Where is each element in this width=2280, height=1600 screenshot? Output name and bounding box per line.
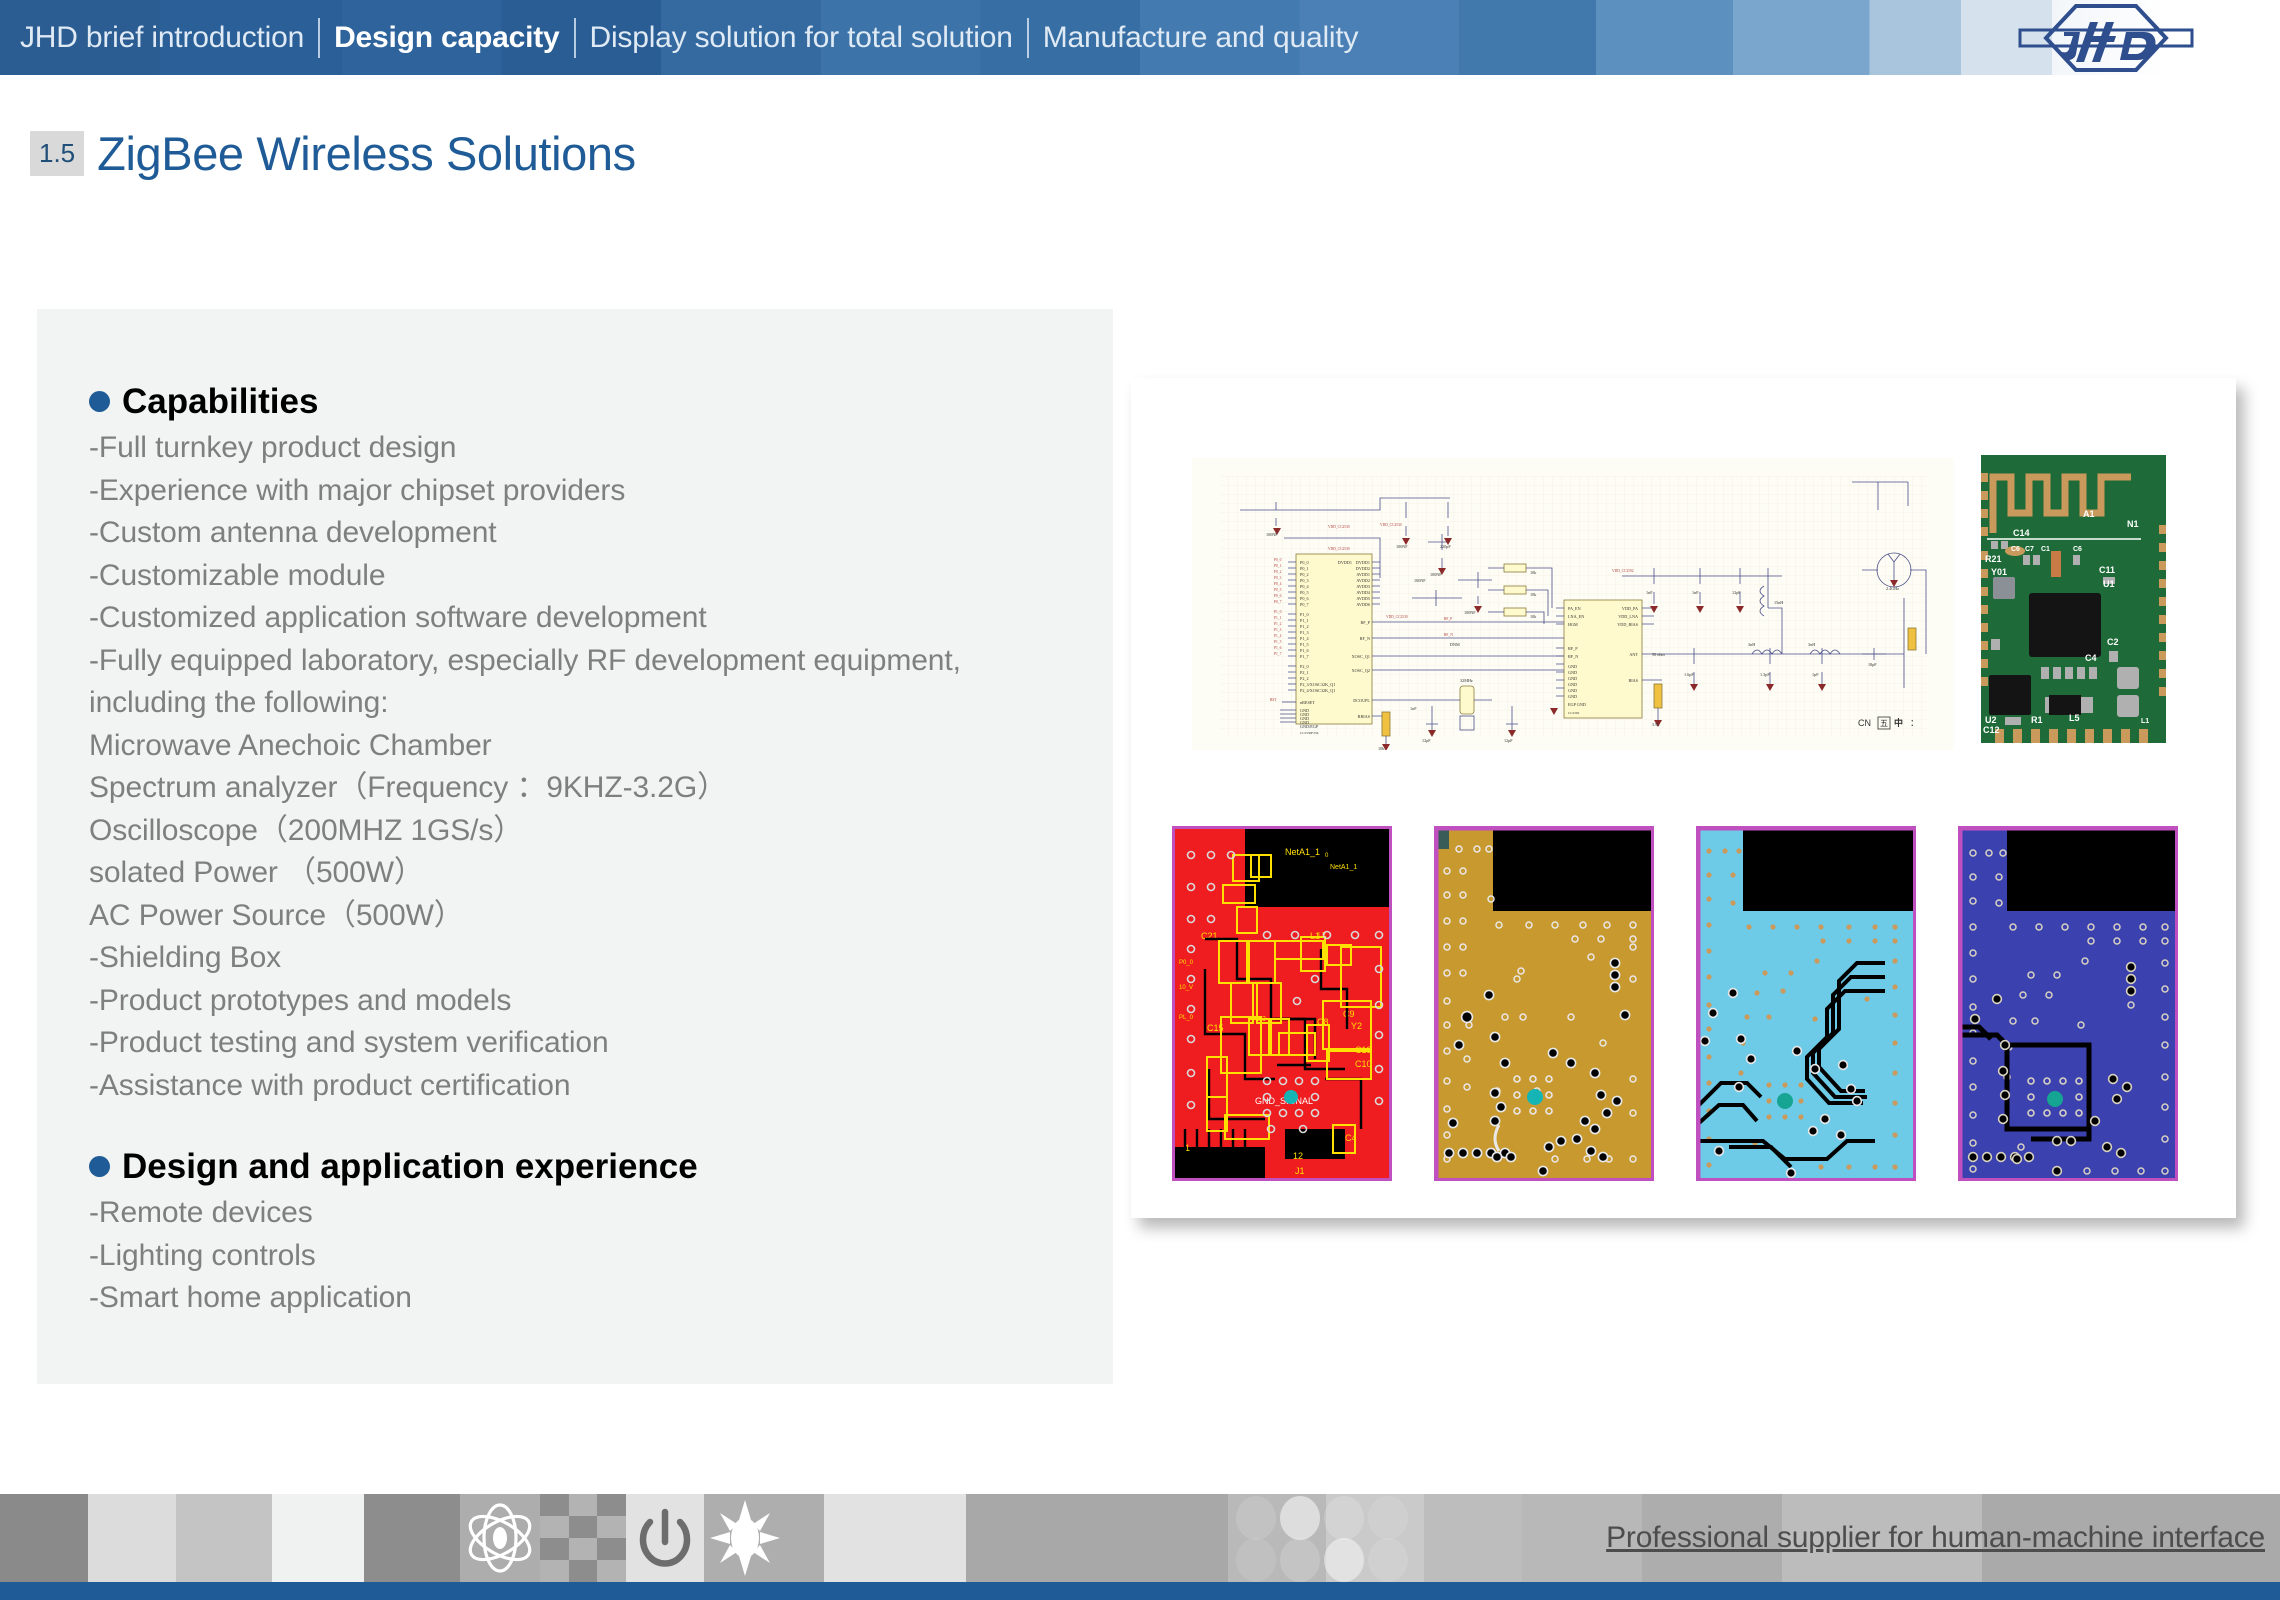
svg-text:DNM: DNM: [1450, 642, 1460, 647]
list-item: -Smart home application: [89, 1277, 1113, 1320]
svg-text:10k: 10k: [1530, 592, 1537, 597]
svg-text:J1: J1: [1295, 1166, 1305, 1176]
svg-text:12pF: 12pF: [1732, 590, 1741, 595]
svg-text:3nH: 3nH: [1748, 642, 1755, 647]
svg-text:1.3pF: 1.3pF: [1760, 672, 1770, 677]
svg-text:P2_3/XOSC32K_Q1: P2_3/XOSC32K_Q1: [1300, 682, 1335, 687]
svg-text:XOSC_Q2: XOSC_Q2: [1352, 668, 1370, 673]
list-item: -Custom antenna development: [89, 512, 1113, 555]
svg-text:NetA1_1: NetA1_1: [1330, 864, 1357, 871]
section-spacer: [89, 1107, 1113, 1149]
svg-text:PA_EN: PA_EN: [1568, 606, 1581, 611]
footer-icon-row: [460, 1494, 786, 1582]
list-item: -Product prototypes and models: [89, 980, 1113, 1023]
svg-text:Y01: Y01: [1991, 567, 2007, 577]
svg-text:P0_5: P0_5: [1274, 588, 1282, 592]
svg-text:12pF: 12pF: [1422, 738, 1431, 743]
svg-text:P0_1: P0_1: [1300, 566, 1309, 571]
svg-text:100NF: 100NF: [1414, 578, 1426, 583]
svg-text:P1_0: P1_0: [1274, 610, 1282, 614]
jhd-logo-icon: [2018, 2, 2194, 74]
svg-text:1nF: 1nF: [1410, 706, 1417, 711]
svg-text:P1_2: P1_2: [1300, 624, 1309, 629]
svg-text:1nF: 1nF: [1646, 590, 1653, 595]
svg-text:C4: C4: [2085, 653, 2097, 663]
list-item: -Product testing and system verification: [89, 1022, 1113, 1065]
footer-band: [88, 1494, 176, 1582]
svg-text:N1: N1: [2127, 519, 2139, 529]
footer-band: [0, 1494, 88, 1582]
svg-text:GND/EGP: GND/EGP: [1300, 724, 1319, 729]
svg-text:P0_7: P0_7: [1274, 600, 1282, 604]
pcb-layer-inner-gnd-image: [1437, 829, 1654, 1181]
pcb-layer-inner-sig-image: [1699, 829, 1916, 1181]
svg-text:1nF: 1nF: [1692, 590, 1699, 595]
nav-item-list: JHD brief introduction Design capacity D…: [6, 0, 1372, 75]
svg-text:P1_5: P1_5: [1300, 642, 1309, 647]
svg-text:2.4GHz: 2.4GHz: [1886, 586, 1899, 591]
footer-band: [272, 1494, 364, 1582]
page-title: ZigBee Wireless Solutions: [97, 130, 636, 177]
svg-text:XOSC_Q1: XOSC_Q1: [1352, 654, 1370, 659]
svg-text:P0_3: P0_3: [1300, 578, 1309, 583]
svg-text:RF_N: RF_N: [1360, 636, 1370, 641]
nav-separator: [574, 18, 576, 58]
svg-text:NetA1_1: NetA1_1: [1285, 847, 1320, 857]
svg-text:P1_1: P1_1: [1300, 618, 1309, 623]
svg-text:P0_6: P0_6: [1274, 594, 1282, 598]
svg-text:AVDD4: AVDD4: [1356, 590, 1371, 595]
list-item: -Experience with major chipset providers: [89, 470, 1113, 513]
svg-text:P2_0: P2_0: [1300, 664, 1309, 669]
svg-text:P2_2: P2_2: [1300, 676, 1309, 681]
svg-text:A1: A1: [2083, 509, 2095, 519]
sun-burst-icon: [704, 1494, 786, 1582]
svg-text:P0_6: P0_6: [1300, 596, 1309, 601]
svg-text:220pF: 220pF: [1440, 544, 1451, 549]
slide-number-badge: 1.5: [30, 131, 84, 176]
svg-text:P0_1: P0_1: [1274, 564, 1282, 568]
svg-text:10k: 10k: [1530, 614, 1537, 619]
svg-text:CC2530F256: CC2530F256: [1300, 731, 1319, 735]
svg-text:P1_4: P1_4: [1274, 634, 1282, 638]
list-item: Microwave Anechoic Chamber: [89, 725, 1113, 768]
svg-text:P0_3: P0_3: [1274, 576, 1282, 580]
svg-text:P0_4: P0_4: [1300, 584, 1310, 589]
svg-text:100NF: 100NF: [1430, 572, 1442, 577]
svg-text:L1: L1: [2141, 718, 2149, 725]
svg-text:CC2592: CC2592: [1568, 711, 1580, 715]
svg-text:VDD_CC2530: VDD_CC2530: [1328, 525, 1350, 529]
svg-text:DVDD1: DVDD1: [1338, 560, 1352, 565]
svg-text:GND: GND: [1568, 682, 1577, 687]
list-item: AC Power Source（500W）: [89, 895, 1113, 938]
svg-text:P1_2: P1_2: [1274, 622, 1282, 626]
svg-text:VDD_CC2592: VDD_CC2592: [1612, 569, 1634, 573]
svg-text:P0_4: P0_4: [1274, 582, 1282, 586]
nav-separator: [1027, 18, 1029, 58]
footer-band: [364, 1494, 460, 1582]
pcb-layer-inner-gnd[interactable]: [1434, 826, 1654, 1181]
svg-text:VDD_CC2530: VDD_CC2530: [1386, 615, 1408, 619]
svg-text:BIAS: BIAS: [1628, 678, 1638, 683]
svg-text:P0_0: P0_0: [1179, 960, 1194, 966]
footer-band: [824, 1494, 966, 1582]
section-heading-label: Design and application experience: [122, 1149, 698, 1184]
svg-text:VDD_CC2530: VDD_CC2530: [1380, 523, 1402, 527]
svg-text:P1_3: P1_3: [1300, 630, 1309, 635]
list-item: Spectrum analyzer（Frequency ：9KHZ-3.2G）: [89, 767, 1113, 810]
bullet-dot-icon: [89, 1156, 110, 1177]
svg-text:五: 五: [1880, 719, 1888, 728]
svg-text:RF_P: RF_P: [1568, 646, 1578, 651]
bullet-dot-icon: [89, 391, 110, 412]
svg-text:32MHz: 32MHz: [1460, 678, 1473, 683]
svg-text:P1_5: P1_5: [1274, 640, 1282, 644]
schematic-corner-text: CN: [1858, 718, 1871, 728]
nav-item-design-capacity[interactable]: Design capacity: [320, 23, 573, 53]
svg-text:PL_0: PL_0: [1179, 1015, 1194, 1021]
svg-text:AVDD2: AVDD2: [1356, 578, 1370, 583]
svg-text:L5: L5: [2069, 713, 2080, 723]
svg-text:P1_7: P1_7: [1300, 654, 1309, 659]
svg-text:R1: R1: [2031, 715, 2043, 725]
svg-text:C12: C12: [1983, 725, 2000, 735]
svg-text:P1_3: P1_3: [1274, 628, 1282, 632]
svg-text:P0_5: P0_5: [1300, 590, 1309, 595]
atom-icon: [460, 1494, 540, 1582]
svg-text:：: ：: [1910, 718, 1919, 728]
pcb-layer-bottom[interactable]: [1958, 826, 2178, 1181]
list-item: -Lighting controls: [89, 1235, 1113, 1278]
svg-text:10k: 10k: [1378, 746, 1385, 750]
svg-text:100NF: 100NF: [1266, 532, 1278, 537]
svg-text:C6: C6: [2073, 546, 2082, 553]
slide-title-row: 1.5 ZigBee Wireless Solutions: [30, 130, 636, 177]
section-heading-design-and-application-experience: Design and application experience: [89, 1149, 1113, 1184]
svg-text:GND: GND: [1568, 688, 1577, 693]
list-item: -Full turnkey product design: [89, 427, 1113, 470]
section-heading-capabilities: Capabilities: [89, 384, 1113, 419]
list-item: -Fully equipped laboratory, especially R…: [89, 640, 1113, 683]
svg-text:VDD_BIAS: VDD_BIAS: [1617, 622, 1638, 627]
svg-text:3.9k: 3.9k: [1652, 722, 1660, 727]
pcb-layer-top[interactable]: NetA1_1NetA1_1 0 GND_SIGNAL 12J1 1 C21L1…: [1172, 826, 1392, 1181]
svg-text:C1: C1: [2041, 546, 2050, 553]
svg-text:VDD_PA: VDD_PA: [1622, 606, 1638, 611]
list-item: -Assistance with product certification: [89, 1065, 1113, 1108]
svg-text:P1_4: P1_4: [1300, 636, 1310, 641]
svg-text:LNA_EN: LNA_EN: [1568, 614, 1584, 619]
pcb-layer-gallery: NetA1_1NetA1_1 0 GND_SIGNAL 12J1 1 C21L1…: [1172, 826, 2194, 1181]
svg-text:P1_1: P1_1: [1274, 616, 1282, 620]
svg-text:DCOUPL: DCOUPL: [1353, 698, 1370, 703]
svg-text:AVDD6: AVDD6: [1356, 602, 1370, 607]
list-item: including the following:: [89, 682, 1113, 725]
svg-text:C6: C6: [2011, 546, 2020, 553]
svg-text:P0_2: P0_2: [1274, 570, 1282, 574]
svg-text:C10: C10: [1355, 1059, 1372, 1069]
pcb-layer-inner-sig[interactable]: [1696, 826, 1916, 1181]
svg-text:P0_0: P0_0: [1274, 558, 1282, 562]
svg-text:RF_P: RF_P: [1360, 620, 1370, 625]
svg-text:GND: GND: [1568, 694, 1577, 699]
svg-text:R21: R21: [1985, 554, 2002, 564]
svg-text:P0_0: P0_0: [1300, 560, 1309, 565]
list-item: Oscilloscope（200MHZ 1GS/s）: [89, 810, 1113, 853]
list-item: -Shielding Box: [89, 937, 1113, 980]
svg-text:P1_0: P1_0: [1300, 612, 1309, 617]
svg-text:10k: 10k: [1530, 570, 1537, 575]
footer-bar: Professional supplier for human-machine …: [0, 1494, 2280, 1582]
svg-text:RBIAS: RBIAS: [1358, 714, 1371, 719]
svg-text:HGM: HGM: [1568, 622, 1578, 627]
svg-text:100NF: 100NF: [1464, 610, 1476, 615]
svg-text:50 ohm: 50 ohm: [1652, 652, 1665, 657]
pcb-layer-bottom-image: [1961, 829, 2178, 1181]
svg-text:P2_1: P2_1: [1300, 670, 1309, 675]
nav-item-display-solution[interactable]: Display solution for total solution: [576, 23, 1027, 53]
svg-text:RST: RST: [1270, 698, 1277, 702]
svg-text:1pF: 1pF: [1812, 672, 1819, 677]
power-icon: [626, 1494, 704, 1582]
svg-text:ANT: ANT: [1629, 652, 1638, 657]
svg-text:AVDD1: AVDD1: [1356, 572, 1370, 577]
svg-text:P1_6: P1_6: [1300, 648, 1309, 653]
list-item: -Customizable module: [89, 555, 1113, 598]
svg-text:VDD_CC2530: VDD_CC2530: [1328, 547, 1350, 551]
svg-text:10_V: 10_V: [1179, 985, 1193, 991]
circles-grid-icon: [1228, 1494, 1424, 1582]
svg-text:DVDD1: DVDD1: [1356, 560, 1370, 565]
svg-text:U2: U2: [1985, 715, 1997, 725]
list-item: -Remote devices: [89, 1192, 1113, 1235]
zigbee-rf-schematic: P0_0P0_1 P0_2P0_3 P0_4P0_5 P0_6P0_7 P1_0…: [1192, 458, 1954, 750]
svg-text:12pF: 12pF: [1504, 738, 1513, 743]
svg-text:RF_P: RF_P: [1444, 617, 1452, 621]
svg-text:DVDD2: DVDD2: [1356, 566, 1370, 571]
module-photo-image: A1 N1 C14 R21 Y01 U1 C11 C2 C4 L5 U2 C12…: [1981, 455, 2166, 743]
svg-text:P1_6: P1_6: [1274, 646, 1282, 650]
list-item: solated Power （500W）: [89, 852, 1113, 895]
svg-text:P0_7: P0_7: [1300, 602, 1309, 607]
svg-text:1.6pF: 1.6pF: [1684, 672, 1694, 677]
svg-text:C2: C2: [2107, 637, 2119, 647]
svg-text:GND: GND: [1568, 664, 1577, 669]
svg-text:U1: U1: [2103, 579, 2115, 589]
bottom-accent-bar: [0, 1582, 2280, 1600]
svg-text:GND: GND: [1568, 676, 1577, 681]
svg-text:100NF: 100NF: [1396, 544, 1408, 549]
jhd-logo: [2018, 2, 2194, 74]
svg-text:3nH: 3nH: [1808, 642, 1815, 647]
svg-text:nRESET: nRESET: [1300, 700, 1315, 705]
svg-text:EGP GND: EGP GND: [1568, 702, 1586, 707]
svg-text:P1_7: P1_7: [1274, 652, 1282, 656]
footer-band: [176, 1494, 272, 1582]
section-heading-label: Capabilities: [122, 384, 318, 419]
svg-text:Y2: Y2: [1351, 1021, 1362, 1031]
svg-text:中: 中: [1894, 717, 1903, 728]
svg-text:VDD_LNA: VDD_LNA: [1618, 614, 1638, 619]
schematic-drawing: P0_0P0_1 P0_2P0_3 P0_4P0_5 P0_6P0_7 P1_0…: [1192, 458, 1954, 750]
svg-text:RF_N: RF_N: [1444, 633, 1453, 637]
svg-text:GND: GND: [1568, 670, 1577, 675]
nav-item-jhd-brief-introduction[interactable]: JHD brief introduction: [6, 23, 318, 53]
svg-text:18pF: 18pF: [1868, 662, 1877, 667]
checkerboard-icon: [540, 1494, 626, 1582]
nav-separator: [318, 18, 320, 58]
nav-item-manufacture-and-quality[interactable]: Manufacture and quality: [1029, 23, 1373, 53]
capabilities-panel: Capabilities -Full turnkey product desig…: [37, 309, 1113, 1384]
svg-text:RF_N: RF_N: [1568, 654, 1578, 659]
svg-text:C14: C14: [2013, 528, 2030, 538]
svg-text:P0_2: P0_2: [1300, 572, 1309, 577]
svg-text:AVDD5: AVDD5: [1356, 596, 1370, 601]
top-navigation-bar: JHD brief introduction Design capacity D…: [0, 0, 2280, 75]
svg-text:C9: C9: [1343, 1009, 1355, 1019]
zigbee-module-photo: A1 N1 C14 R21 Y01 U1 C11 C2 C4 L5 U2 C12…: [1981, 455, 2166, 743]
svg-text:C11: C11: [2099, 565, 2115, 575]
footer-tagline: Professional supplier for human-machine …: [1606, 1521, 2265, 1555]
svg-text:12: 12: [1293, 1151, 1303, 1161]
svg-text:C7: C7: [2025, 546, 2034, 553]
pcb-layer-top-image: NetA1_1NetA1_1 0 GND_SIGNAL 12J1 1 C21L1…: [1175, 829, 1392, 1181]
list-item: -Customized application software develop…: [89, 597, 1113, 640]
svg-text:AVDD3: AVDD3: [1356, 584, 1370, 589]
svg-text:15nH: 15nH: [1774, 600, 1783, 605]
svg-text:P2_4/XOSC32K_Q1: P2_4/XOSC32K_Q1: [1300, 688, 1335, 693]
